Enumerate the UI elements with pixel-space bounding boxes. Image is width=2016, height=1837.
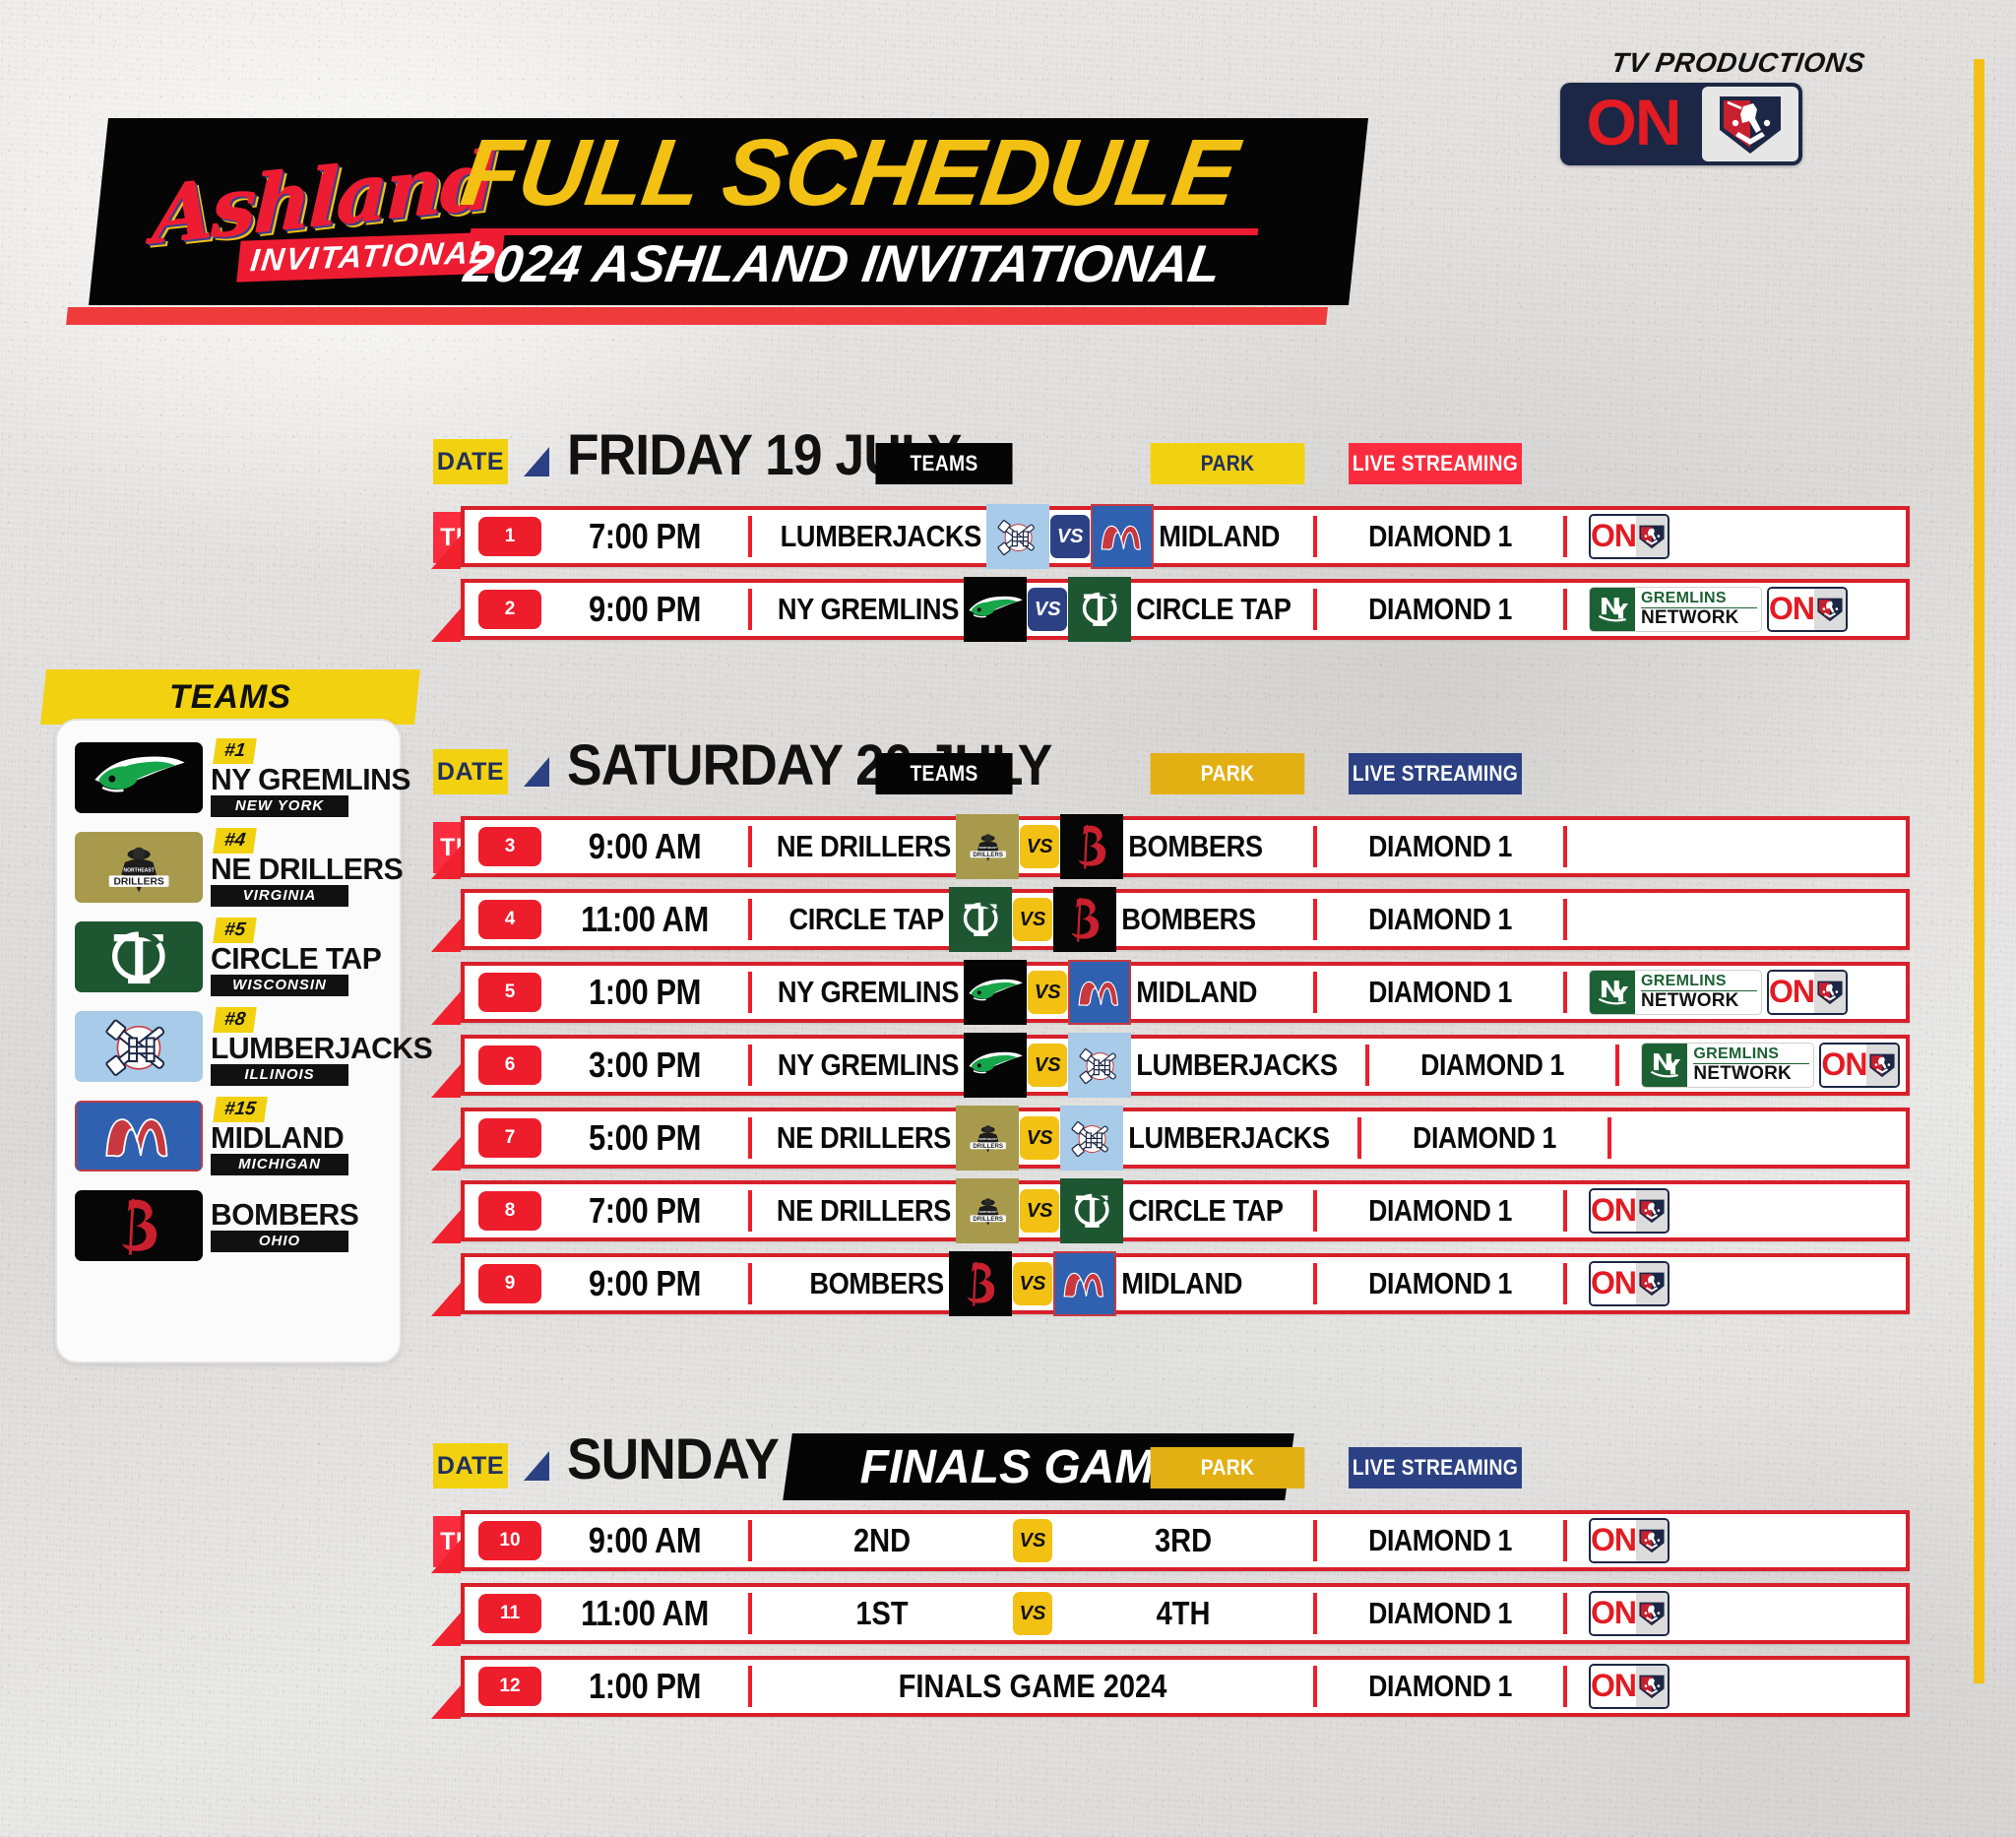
svg-text:NORTHEAST: NORTHEAST bbox=[978, 1211, 997, 1215]
svg-text:NORTHEAST: NORTHEAST bbox=[123, 867, 154, 873]
game-park: DIAMOND 1 bbox=[1335, 1669, 1546, 1704]
row-arrow-icon bbox=[431, 918, 461, 952]
game-park: DIAMOND 1 bbox=[1335, 1193, 1546, 1229]
svg-text:DRILLERS: DRILLERS bbox=[973, 852, 1003, 858]
game-row[interactable]: 12 1:00 PM FINALS GAME 2024 DIAMOND 1 ON bbox=[461, 1656, 1910, 1717]
matchup-away-logo-midland bbox=[1091, 504, 1154, 569]
column-header-live-streaming: LIVE STREAMING bbox=[1349, 443, 1522, 484]
game-number-badge: 2 bbox=[478, 590, 541, 629]
matchup-away-name: MIDLAND bbox=[1116, 1266, 1290, 1301]
on-network-stream-badge[interactable]: ON bbox=[1589, 1518, 1669, 1563]
matchup-away-name: CIRCLE TAP bbox=[1131, 592, 1291, 627]
on-network-stream-badge[interactable]: ON bbox=[1589, 1188, 1669, 1234]
column-header-park: PARK bbox=[1151, 753, 1305, 794]
game-streaming-cell: GREMLINS NETWORK ON bbox=[1567, 583, 1906, 636]
game-time: 7:00 PM bbox=[556, 1190, 734, 1232]
matchup-away-name: BOMBERS bbox=[1116, 902, 1290, 937]
team-state: WISCONSIN bbox=[211, 975, 348, 996]
on-baseball-shield-icon bbox=[1636, 1263, 1668, 1304]
game-park: DIAMOND 1 bbox=[1335, 1523, 1546, 1558]
matchup: NE DRILLERS DRILLERS NORTHEAST VS bbox=[752, 1111, 1357, 1165]
on-wordmark: ON bbox=[1591, 1593, 1636, 1634]
matchup-away-seed: 4TH bbox=[1069, 1595, 1297, 1632]
matchup-home-seed: 1ST bbox=[768, 1595, 996, 1632]
gremlins-network-text: GREMLINS NETWORK bbox=[1635, 971, 1761, 1014]
game-number-badge: 7 bbox=[478, 1118, 541, 1158]
game-time: 3:00 PM bbox=[556, 1045, 734, 1086]
gremlins-network-bottom-word: NETWORK bbox=[1641, 608, 1757, 628]
column-divider bbox=[1357, 1117, 1361, 1159]
matchup: LUMBERJACKS VS bbox=[752, 510, 1313, 563]
matchup-away-logo-lumberjacks bbox=[1060, 1106, 1123, 1171]
column-header-live-streaming: LIVE STREAMING bbox=[1349, 753, 1522, 794]
teams-sidebar-title: TEAMS bbox=[43, 669, 417, 725]
on-wordmark: ON bbox=[1769, 589, 1814, 630]
matchup-home-logo-circletap bbox=[949, 887, 1012, 952]
game-number-badge: 3 bbox=[478, 827, 541, 866]
day-section-friday: DATE FRIDAY 19 JULY TEAMS PARK LIVE STRE… bbox=[433, 433, 1969, 652]
game-park: DIAMOND 1 bbox=[1335, 902, 1546, 937]
vs-badge: VS bbox=[1028, 1044, 1067, 1087]
matchup-home-logo-drillers: DRILLERS NORTHEAST bbox=[956, 814, 1019, 879]
row-arrow-icon bbox=[431, 1685, 461, 1719]
game-streaming-cell bbox=[1567, 893, 1906, 946]
matchup-away-name: MIDLAND bbox=[1154, 519, 1293, 554]
team-meta: #1 NY GREMLINS NEW YORK bbox=[211, 738, 416, 818]
matchup-home-logo-drillers: DRILLERS NORTHEAST bbox=[956, 1178, 1019, 1243]
svg-text:NORTHEAST: NORTHEAST bbox=[978, 847, 997, 851]
team-list-item[interactable]: #15 MIDLAND MICHIGAN bbox=[75, 1093, 390, 1179]
gremlins-network-bottom-word: NETWORK bbox=[1693, 1064, 1809, 1084]
matchup-home-name: LUMBERJACKS bbox=[781, 519, 987, 554]
column-header-park: PARK bbox=[1151, 1447, 1305, 1489]
game-time: 1:00 PM bbox=[556, 972, 734, 1013]
on-baseball-shield-icon bbox=[1636, 1666, 1668, 1707]
game-park: DIAMOND 1 bbox=[1387, 1047, 1599, 1083]
date-chip: DATE bbox=[433, 1443, 508, 1489]
game-park: DIAMOND 1 bbox=[1335, 1596, 1546, 1631]
team-name: LUMBERJACKS bbox=[211, 1033, 432, 1064]
game-rows-sunday: TIME 10 9:00 AM 2ND VS 3RD DIAMOND 1 bbox=[433, 1510, 1969, 1717]
vs-badge: VS bbox=[1020, 1116, 1059, 1160]
team-name: CIRCLE TAP bbox=[211, 943, 385, 975]
game-time: 9:00 PM bbox=[556, 589, 734, 630]
game-time: 5:00 PM bbox=[556, 1117, 734, 1159]
team-meta: #5 CIRCLE TAP WISCONSIN bbox=[211, 918, 390, 997]
matchup: NY GREMLINS VS bbox=[752, 1039, 1365, 1092]
game-number-badge: 12 bbox=[478, 1667, 541, 1706]
matchup-home-logo-bombers bbox=[949, 1251, 1012, 1316]
on-baseball-shield-icon bbox=[1636, 1520, 1668, 1561]
game-row[interactable]: 1 7:00 PM LUMBERJACKS bbox=[461, 506, 1910, 567]
matchup: BOMBERS VS MIDLAND bbox=[752, 1257, 1313, 1310]
gremlins-ny-monogram-icon bbox=[1590, 971, 1635, 1014]
game-streaming-cell: ON bbox=[1567, 510, 1906, 563]
matchup-home-name: NE DRILLERS bbox=[777, 1193, 956, 1229]
on-wordmark: ON bbox=[1821, 1045, 1866, 1086]
row-arrow-icon bbox=[431, 1540, 461, 1573]
matchup: NY GREMLINS VS MIDLAND bbox=[752, 966, 1313, 1019]
game-row[interactable]: 2 9:00 PM NY GREMLINS VS bbox=[461, 579, 1910, 640]
column-divider bbox=[748, 1666, 752, 1707]
game-row[interactable]: 3 9:00 AM NE DRILLERS DRILLERS NORTHEAST… bbox=[461, 816, 1910, 877]
on-wordmark: ON bbox=[1769, 972, 1814, 1013]
title-rule bbox=[471, 228, 1259, 235]
team-rank-badge: #1 bbox=[213, 738, 257, 764]
on-wordmark: ON bbox=[1591, 1263, 1636, 1304]
matchup-home-name: NY GREMLINS bbox=[778, 592, 964, 627]
gremlins-network-stream-badge[interactable]: GREMLINS NETWORK bbox=[1641, 1043, 1814, 1088]
vs-badge: VS bbox=[1020, 825, 1059, 868]
game-number-badge: 11 bbox=[478, 1594, 541, 1633]
game-number-badge: 9 bbox=[478, 1264, 541, 1303]
page-header: Ashland INVITATIONAL FULL SCHEDULE 2024 … bbox=[59, 118, 1358, 330]
column-header-teams: TEAMS bbox=[875, 443, 1012, 484]
row-arrow-icon bbox=[431, 1064, 461, 1098]
team-meta: #8 LUMBERJACKS ILLINOIS bbox=[211, 1007, 439, 1087]
game-row[interactable]: 4 11:00 AM CIRCLE TAP VS bbox=[461, 889, 1910, 950]
column-divider bbox=[1313, 516, 1317, 557]
column-divider bbox=[1365, 1045, 1369, 1086]
teams-sidebar: TEAMS #1 NY GREMLINS NEW YORK DRILLERS bbox=[43, 669, 417, 1368]
team-state: MICHIGAN bbox=[211, 1154, 348, 1175]
on-baseball-shield-icon bbox=[1702, 87, 1798, 161]
team-rank-badge: #4 bbox=[213, 828, 257, 854]
team-name: NE DRILLERS bbox=[211, 854, 403, 885]
vs-badge: VS bbox=[1050, 515, 1090, 558]
team-logo-lumberjacks bbox=[75, 1011, 203, 1082]
row-arrow-icon bbox=[431, 1210, 461, 1243]
matchup-home-seed: 2ND bbox=[768, 1522, 996, 1559]
vs-badge: VS bbox=[1028, 971, 1067, 1014]
game-park: DIAMOND 1 bbox=[1335, 975, 1546, 1010]
day-header-friday: DATE FRIDAY 19 JULY TEAMS PARK LIVE STRE… bbox=[433, 433, 1969, 506]
game-row[interactable]: 9 9:00 PM BOMBERS VS MIDLAND bbox=[461, 1253, 1910, 1314]
game-streaming-cell bbox=[1567, 820, 1906, 873]
team-state: VIRGINIA bbox=[211, 885, 348, 907]
column-divider bbox=[1313, 972, 1317, 1013]
team-logo-midland bbox=[75, 1101, 203, 1172]
team-state: OHIO bbox=[211, 1231, 348, 1252]
on-baseball-shield-icon bbox=[1636, 1190, 1668, 1232]
game-time: 9:00 AM bbox=[556, 1520, 734, 1561]
matchup-home-name: CIRCLE TAP bbox=[776, 902, 949, 937]
svg-text:DRILLERS: DRILLERS bbox=[113, 876, 163, 887]
game-streaming-cell: ON bbox=[1567, 1514, 1906, 1567]
right-gold-rail bbox=[1974, 59, 1984, 1683]
game-time: 7:00 PM bbox=[556, 516, 734, 557]
row-arrow-icon bbox=[431, 536, 461, 569]
broadcaster-logo: TV PRODUCTIONS ON bbox=[1560, 47, 1875, 165]
game-time: 9:00 PM bbox=[556, 1263, 734, 1304]
page-subtitle: 2024 ASHLAND INVITATIONAL bbox=[461, 238, 1224, 290]
game-number-badge: 8 bbox=[478, 1191, 541, 1231]
game-streaming-cell: GREMLINS NETWORK ON bbox=[1567, 966, 1906, 1019]
date-arrow-icon bbox=[524, 1451, 549, 1481]
matchup-away-logo-circletap bbox=[1068, 577, 1131, 642]
game-streaming-cell: ON bbox=[1567, 1257, 1906, 1310]
matchup-home-name: NE DRILLERS bbox=[777, 829, 956, 864]
on-network-stream-badge[interactable]: ON bbox=[1589, 1591, 1669, 1636]
game-number-badge: 1 bbox=[478, 517, 541, 556]
vs-badge: VS bbox=[1013, 898, 1052, 941]
gremlins-network-text: GREMLINS NETWORK bbox=[1687, 1044, 1813, 1087]
matchup-away-logo-circletap bbox=[1060, 1178, 1123, 1243]
game-streaming-cell bbox=[1611, 1111, 1906, 1165]
on-wordmark: ON bbox=[1591, 1666, 1636, 1707]
vs-badge: VS bbox=[1020, 1189, 1059, 1233]
on-wordmark: ON bbox=[1591, 1520, 1636, 1561]
day-section-saturday: DATE SATURDAY 20 JULY TEAMS PARK LIVE ST… bbox=[433, 743, 1969, 1326]
matchup-away-seed: 3RD bbox=[1069, 1522, 1297, 1559]
team-list-item[interactable]: #1 NY GREMLINS NEW YORK bbox=[75, 734, 390, 821]
gremlins-ny-monogram-icon bbox=[1642, 1044, 1687, 1087]
game-row[interactable]: 6 3:00 PM NY GREMLINS VS bbox=[461, 1035, 1910, 1096]
game-number-badge: 4 bbox=[478, 900, 541, 939]
matchup-away-name: LUMBERJACKS bbox=[1131, 1047, 1338, 1083]
day-header-saturday: DATE SATURDAY 20 JULY TEAMS PARK LIVE ST… bbox=[433, 743, 1969, 816]
game-time: 11:00 AM bbox=[556, 899, 734, 940]
team-list-item[interactable]: #5 CIRCLE TAP WISCONSIN bbox=[75, 914, 390, 1000]
matchup-away-logo-lumberjacks bbox=[1068, 1033, 1131, 1098]
game-park: DIAMOND 1 bbox=[1335, 592, 1546, 627]
gremlins-network-top-word: GREMLINS bbox=[1641, 591, 1757, 608]
row-arrow-icon bbox=[431, 1283, 461, 1316]
matchup-home-logo-gremlins bbox=[964, 1033, 1027, 1098]
team-name: MIDLAND bbox=[211, 1122, 385, 1154]
date-arrow-icon bbox=[524, 447, 549, 476]
game-row[interactable]: 5 1:00 PM NY GREMLINS VS MIDL bbox=[461, 962, 1910, 1023]
matchup-away-name: MIDLAND bbox=[1131, 975, 1291, 1010]
svg-text:DRILLERS: DRILLERS bbox=[973, 1216, 1003, 1223]
on-baseball-shield-icon bbox=[1636, 516, 1668, 557]
game-row[interactable]: 8 7:00 PM NE DRILLERS DRILLERS NORTHEAST… bbox=[461, 1180, 1910, 1241]
matchup-home-logo-drillers: DRILLERS NORTHEAST bbox=[956, 1106, 1019, 1171]
game-number-badge: 5 bbox=[478, 973, 541, 1012]
gremlins-network-stream-badge[interactable]: GREMLINS NETWORK bbox=[1589, 970, 1762, 1015]
team-name: BOMBERS bbox=[211, 1199, 385, 1231]
row-arrow-icon bbox=[431, 1137, 461, 1171]
game-park: DIAMOND 1 bbox=[1335, 519, 1546, 554]
matchup-home-name: NE DRILLERS bbox=[777, 1120, 956, 1156]
team-meta: BOMBERS OHIO bbox=[211, 1199, 390, 1253]
on-network-stream-badge[interactable]: ON bbox=[1589, 1261, 1669, 1306]
vs-badge: VS bbox=[1013, 1262, 1052, 1305]
column-header-park: PARK bbox=[1151, 443, 1305, 484]
matchup-away-name: LUMBERJACKS bbox=[1123, 1120, 1330, 1156]
vs-badge: VS bbox=[1013, 1592, 1052, 1635]
gremlins-network-stream-badge[interactable]: GREMLINS NETWORK bbox=[1589, 587, 1762, 632]
team-list-item[interactable]: #8 LUMBERJACKS ILLINOIS bbox=[75, 1003, 390, 1090]
game-streaming-cell: GREMLINS NETWORK ON bbox=[1619, 1039, 1906, 1092]
game-park: DIAMOND 1 bbox=[1379, 1120, 1591, 1156]
game-rows-friday: TIME 1 7:00 PM LUMBERJACKS bbox=[433, 506, 1969, 640]
matchup: 1ST VS 4TH bbox=[752, 1592, 1313, 1635]
column-divider bbox=[1313, 589, 1317, 630]
game-streaming-cell: ON bbox=[1567, 1184, 1906, 1237]
on-baseball-shield-icon bbox=[1814, 589, 1846, 630]
matchup: NE DRILLERS DRILLERS NORTHEAST VS BOMBER… bbox=[752, 820, 1313, 873]
date-chip: DATE bbox=[433, 439, 508, 484]
team-meta: #15 MIDLAND MICHIGAN bbox=[211, 1097, 390, 1176]
game-number-badge: 6 bbox=[478, 1045, 541, 1085]
on-baseball-shield-icon bbox=[1636, 1593, 1668, 1634]
on-network-stream-badge[interactable]: ON bbox=[1767, 587, 1848, 632]
matchup: CIRCLE TAP VS BOMBERS bbox=[752, 893, 1313, 946]
game-row[interactable]: 7 5:00 PM NE DRILLERS DRILLERS NORTHEAST… bbox=[461, 1108, 1910, 1169]
team-logo-bombers bbox=[75, 1190, 203, 1261]
game-rows-saturday: TIME 3 9:00 AM NE DRILLERS DRILLERS NORT… bbox=[433, 816, 1969, 1314]
on-network-stream-badge[interactable]: ON bbox=[1589, 514, 1669, 559]
column-header-teams: TEAMS bbox=[875, 753, 1012, 794]
on-network-stream-badge[interactable]: ON bbox=[1767, 970, 1848, 1015]
column-divider bbox=[1313, 1593, 1317, 1634]
team-rank-badge: #5 bbox=[213, 918, 257, 943]
team-state: NEW YORK bbox=[211, 795, 348, 817]
game-number-badge: 10 bbox=[478, 1521, 541, 1560]
column-divider bbox=[1313, 1520, 1317, 1561]
day-section-sunday: DATE SUNDAY 21 JUIY FINALS GAMES PARK LI… bbox=[433, 1437, 1969, 1729]
team-logo-circletap bbox=[75, 921, 203, 992]
svg-text:NORTHEAST: NORTHEAST bbox=[978, 1138, 997, 1142]
team-name: NY GREMLINS bbox=[211, 764, 410, 795]
finals-game-label: FINALS GAME 2024 bbox=[786, 1668, 1280, 1705]
column-divider bbox=[1313, 1666, 1317, 1707]
matchup-away-logo-bombers bbox=[1053, 887, 1116, 952]
vs-badge: VS bbox=[1013, 1519, 1052, 1562]
game-park: DIAMOND 1 bbox=[1335, 1266, 1546, 1301]
game-streaming-cell: ON bbox=[1567, 1660, 1906, 1713]
date-arrow-icon bbox=[524, 757, 549, 787]
game-time: 9:00 AM bbox=[556, 826, 734, 867]
on-baseball-shield-icon bbox=[1814, 972, 1846, 1013]
team-logo-drillers: DRILLERS NORTHEAST bbox=[75, 832, 203, 903]
gremlins-network-text: GREMLINS NETWORK bbox=[1635, 588, 1761, 631]
on-network-stream-badge[interactable]: ON bbox=[1589, 1664, 1669, 1709]
matchup-away-name: CIRCLE TAP bbox=[1123, 1193, 1291, 1229]
day-header-sunday: DATE SUNDAY 21 JUIY FINALS GAMES PARK LI… bbox=[433, 1437, 1969, 1510]
page-title: FULL SCHEDULE bbox=[456, 126, 1242, 221]
column-divider bbox=[1313, 826, 1317, 867]
on-baseball-shield-icon bbox=[1866, 1045, 1898, 1086]
matchup-away-logo-midland bbox=[1068, 960, 1131, 1025]
matchup: NY GREMLINS VS CIRCLE TAP bbox=[752, 583, 1313, 636]
team-logo-gremlins bbox=[75, 742, 203, 813]
matchup-home-name: NY GREMLINS bbox=[778, 1047, 964, 1083]
ashland-invitational-logo: Ashland INVITATIONAL bbox=[153, 146, 477, 284]
on-wordmark: ON bbox=[1564, 87, 1702, 161]
team-list-item[interactable]: BOMBERS OHIO bbox=[75, 1182, 390, 1269]
column-divider bbox=[1313, 1263, 1317, 1304]
matchup: 2ND VS 3RD bbox=[752, 1519, 1313, 1562]
row-arrow-icon bbox=[431, 608, 461, 642]
gremlins-ny-monogram-icon bbox=[1590, 588, 1635, 631]
column-header-live-streaming: LIVE STREAMING bbox=[1349, 1447, 1522, 1489]
tv-productions-kicker: TV PRODUCTIONS bbox=[1609, 47, 1867, 79]
matchup-away-name: BOMBERS bbox=[1123, 829, 1291, 864]
matchup-home-logo-lumberjacks bbox=[986, 504, 1049, 569]
row-arrow-icon bbox=[431, 846, 461, 879]
game-row[interactable]: 10 9:00 AM 2ND VS 3RD DIAMOND 1 ON bbox=[461, 1510, 1910, 1571]
game-time: 11:00 AM bbox=[556, 1593, 734, 1634]
vs-badge: VS bbox=[1028, 588, 1067, 631]
team-list-item[interactable]: DRILLERS NORTHEAST #4 NE DRILLERS VIRGIN… bbox=[75, 824, 390, 911]
matchup-away-logo-bombers bbox=[1060, 814, 1123, 879]
gremlins-network-top-word: GREMLINS bbox=[1641, 974, 1757, 991]
date-chip: DATE bbox=[433, 749, 508, 794]
game-park: DIAMOND 1 bbox=[1335, 829, 1546, 864]
column-divider bbox=[1313, 1190, 1317, 1232]
team-meta: #4 NE DRILLERS VIRGINIA bbox=[211, 828, 409, 908]
team-rank-badge: #8 bbox=[213, 1007, 257, 1033]
svg-text:DRILLERS: DRILLERS bbox=[973, 1143, 1003, 1150]
matchup-home-name: NY GREMLINS bbox=[778, 975, 964, 1010]
on-network-stream-badge[interactable]: ON bbox=[1819, 1043, 1900, 1088]
team-state: ILLINOIS bbox=[211, 1064, 348, 1086]
matchup: NE DRILLERS DRILLERS NORTHEAST VS bbox=[752, 1184, 1313, 1237]
team-rank-badge: #15 bbox=[213, 1097, 267, 1122]
matchup-away-logo-midland bbox=[1053, 1251, 1116, 1316]
row-arrow-icon bbox=[431, 991, 461, 1025]
game-row[interactable]: 11 11:00 AM 1ST VS 4TH DIAMOND 1 ON bbox=[461, 1583, 1910, 1644]
matchup-home-name: BOMBERS bbox=[776, 1266, 949, 1301]
gremlins-network-top-word: GREMLINS bbox=[1693, 1046, 1809, 1064]
teams-list: #1 NY GREMLINS NEW YORK DRILLERS NORTHEA… bbox=[55, 719, 402, 1363]
game-streaming-cell: ON bbox=[1567, 1587, 1906, 1640]
column-divider bbox=[1313, 899, 1317, 940]
game-time: 1:00 PM bbox=[556, 1666, 734, 1707]
on-wordmark: ON bbox=[1591, 516, 1636, 557]
row-arrow-icon bbox=[431, 1613, 461, 1646]
matchup-home-logo-gremlins bbox=[964, 960, 1027, 1025]
matchup-home-logo-gremlins bbox=[964, 577, 1027, 642]
on-network-badge: ON bbox=[1560, 83, 1802, 165]
on-wordmark: ON bbox=[1591, 1190, 1636, 1232]
gremlins-network-bottom-word: NETWORK bbox=[1641, 991, 1757, 1011]
